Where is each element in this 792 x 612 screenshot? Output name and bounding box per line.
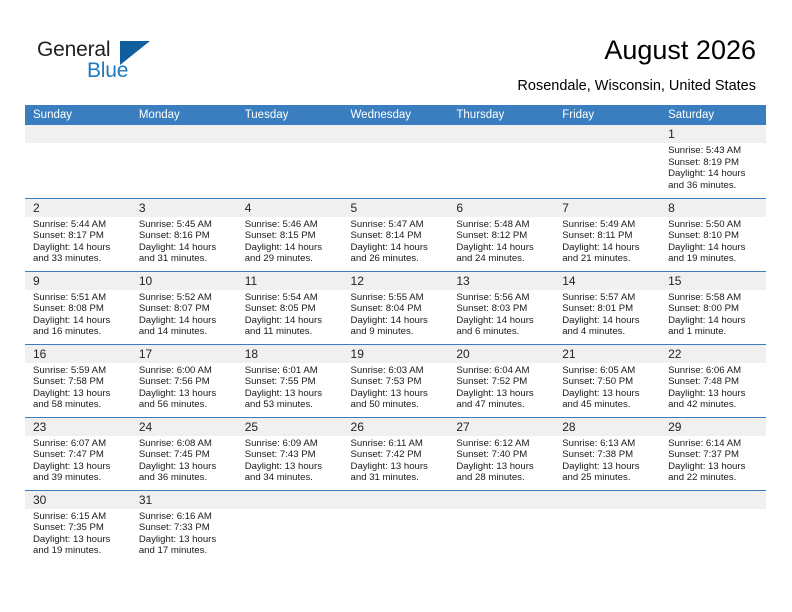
day-sunset-text: Sunset: 7:58 PM bbox=[33, 376, 125, 388]
day-sunrise-text: Sunrise: 6:06 AM bbox=[668, 365, 760, 377]
calendar-day-cell[interactable]: 17Sunrise: 6:00 AMSunset: 7:56 PMDayligh… bbox=[131, 344, 237, 417]
calendar-week-row: 16Sunrise: 5:59 AMSunset: 7:58 PMDayligh… bbox=[25, 344, 766, 417]
day-sunrise-text: Sunrise: 6:13 AM bbox=[562, 438, 654, 450]
weekday-header-wednesday: Wednesday bbox=[343, 105, 449, 125]
calendar-day-cell[interactable]: 24Sunrise: 6:08 AMSunset: 7:45 PMDayligh… bbox=[131, 417, 237, 490]
day-sunrise-text: Sunrise: 5:51 AM bbox=[33, 292, 125, 304]
weekday-header-monday: Monday bbox=[131, 105, 237, 125]
day-daylight1-text: Daylight: 13 hours bbox=[33, 388, 125, 400]
day-daylight2-text: and 36 minutes. bbox=[668, 180, 760, 192]
day-daylight1-text: Daylight: 13 hours bbox=[33, 461, 125, 473]
day-daylight1-text: Daylight: 14 hours bbox=[245, 242, 337, 254]
day-daylight1-text: Daylight: 13 hours bbox=[351, 461, 443, 473]
day-daylight1-text: Daylight: 13 hours bbox=[139, 461, 231, 473]
day-daylight1-text: Daylight: 13 hours bbox=[33, 534, 125, 546]
day-sun-info: Sunrise: 5:44 AMSunset: 8:17 PMDaylight:… bbox=[25, 217, 131, 265]
day-daylight2-text: and 28 minutes. bbox=[456, 472, 548, 484]
day-number: 26 bbox=[343, 418, 449, 436]
day-sunrise-text: Sunrise: 6:03 AM bbox=[351, 365, 443, 377]
calendar-day-cell[interactable]: 10Sunrise: 5:52 AMSunset: 8:07 PMDayligh… bbox=[131, 271, 237, 344]
day-sun-info: Sunrise: 5:50 AMSunset: 8:10 PMDaylight:… bbox=[660, 217, 766, 265]
day-number: 3 bbox=[131, 199, 237, 217]
day-sunrise-text: Sunrise: 6:08 AM bbox=[139, 438, 231, 450]
day-daylight1-text: Daylight: 14 hours bbox=[562, 315, 654, 327]
day-daylight2-text: and 24 minutes. bbox=[456, 253, 548, 265]
day-sun-info: Sunrise: 6:08 AMSunset: 7:45 PMDaylight:… bbox=[131, 436, 237, 484]
day-sun-info: Sunrise: 6:13 AMSunset: 7:38 PMDaylight:… bbox=[554, 436, 660, 484]
calendar-week-row: 1Sunrise: 5:43 AMSunset: 8:19 PMDaylight… bbox=[25, 125, 766, 198]
day-daylight2-text: and 39 minutes. bbox=[33, 472, 125, 484]
calendar-cell-empty bbox=[554, 125, 660, 198]
day-number: 21 bbox=[554, 345, 660, 363]
day-sunset-text: Sunset: 7:40 PM bbox=[456, 449, 548, 461]
day-daylight1-text: Daylight: 13 hours bbox=[139, 388, 231, 400]
day-number: 29 bbox=[660, 418, 766, 436]
day-daylight1-text: Daylight: 13 hours bbox=[245, 461, 337, 473]
day-number bbox=[131, 125, 237, 143]
day-sunrise-text: Sunrise: 6:15 AM bbox=[33, 511, 125, 523]
day-sun-info: Sunrise: 6:06 AMSunset: 7:48 PMDaylight:… bbox=[660, 363, 766, 411]
day-sunset-text: Sunset: 7:37 PM bbox=[668, 449, 760, 461]
weekday-header-tuesday: Tuesday bbox=[237, 105, 343, 125]
day-sun-info: Sunrise: 6:15 AMSunset: 7:35 PMDaylight:… bbox=[25, 509, 131, 557]
day-number: 7 bbox=[554, 199, 660, 217]
day-sun-info: Sunrise: 6:12 AMSunset: 7:40 PMDaylight:… bbox=[448, 436, 554, 484]
weekday-header: SundayMondayTuesdayWednesdayThursdayFrid… bbox=[25, 105, 766, 125]
calendar-body: 1Sunrise: 5:43 AMSunset: 8:19 PMDaylight… bbox=[25, 125, 766, 563]
weekday-header-sunday: Sunday bbox=[25, 105, 131, 125]
calendar-day-cell[interactable]: 5Sunrise: 5:47 AMSunset: 8:14 PMDaylight… bbox=[343, 198, 449, 271]
calendar-cell-empty bbox=[237, 490, 343, 563]
calendar-cell-empty bbox=[343, 125, 449, 198]
day-number: 17 bbox=[131, 345, 237, 363]
day-daylight2-text: and 47 minutes. bbox=[456, 399, 548, 411]
day-sun-info: Sunrise: 6:03 AMSunset: 7:53 PMDaylight:… bbox=[343, 363, 449, 411]
calendar-day-cell[interactable]: 7Sunrise: 5:49 AMSunset: 8:11 PMDaylight… bbox=[554, 198, 660, 271]
day-daylight1-text: Daylight: 13 hours bbox=[245, 388, 337, 400]
calendar-day-cell[interactable]: 12Sunrise: 5:55 AMSunset: 8:04 PMDayligh… bbox=[343, 271, 449, 344]
day-number: 22 bbox=[660, 345, 766, 363]
day-daylight2-text: and 50 minutes. bbox=[351, 399, 443, 411]
calendar-day-cell[interactable]: 11Sunrise: 5:54 AMSunset: 8:05 PMDayligh… bbox=[237, 271, 343, 344]
day-daylight1-text: Daylight: 14 hours bbox=[33, 315, 125, 327]
calendar-cell-empty bbox=[237, 125, 343, 198]
day-number bbox=[554, 491, 660, 509]
day-daylight1-text: Daylight: 13 hours bbox=[562, 461, 654, 473]
calendar-page: General Blue August 2026 Rosendale, Wisc… bbox=[0, 0, 792, 612]
day-number: 20 bbox=[448, 345, 554, 363]
day-number: 11 bbox=[237, 272, 343, 290]
day-daylight2-text: and 31 minutes. bbox=[139, 253, 231, 265]
day-daylight2-text: and 36 minutes. bbox=[139, 472, 231, 484]
day-daylight2-text: and 14 minutes. bbox=[139, 326, 231, 338]
calendar-week-row: 2Sunrise: 5:44 AMSunset: 8:17 PMDaylight… bbox=[25, 198, 766, 271]
day-sunset-text: Sunset: 8:10 PM bbox=[668, 230, 760, 242]
day-sunset-text: Sunset: 8:15 PM bbox=[245, 230, 337, 242]
day-sun-info: Sunrise: 5:58 AMSunset: 8:00 PMDaylight:… bbox=[660, 290, 766, 338]
day-sun-info: Sunrise: 6:05 AMSunset: 7:50 PMDaylight:… bbox=[554, 363, 660, 411]
day-sunset-text: Sunset: 8:03 PM bbox=[456, 303, 548, 315]
day-number bbox=[554, 125, 660, 143]
day-number: 24 bbox=[131, 418, 237, 436]
day-number: 5 bbox=[343, 199, 449, 217]
day-sunrise-text: Sunrise: 6:14 AM bbox=[668, 438, 760, 450]
day-sunrise-text: Sunrise: 5:54 AM bbox=[245, 292, 337, 304]
calendar-day-cell[interactable]: 21Sunrise: 6:05 AMSunset: 7:50 PMDayligh… bbox=[554, 344, 660, 417]
day-sunrise-text: Sunrise: 5:45 AM bbox=[139, 219, 231, 231]
day-daylight1-text: Daylight: 14 hours bbox=[668, 315, 760, 327]
day-daylight1-text: Daylight: 14 hours bbox=[245, 315, 337, 327]
calendar-cell-empty bbox=[660, 490, 766, 563]
day-daylight1-text: Daylight: 14 hours bbox=[562, 242, 654, 254]
day-daylight1-text: Daylight: 13 hours bbox=[456, 388, 548, 400]
day-sunrise-text: Sunrise: 6:09 AM bbox=[245, 438, 337, 450]
day-sun-info: Sunrise: 5:51 AMSunset: 8:08 PMDaylight:… bbox=[25, 290, 131, 338]
day-daylight1-text: Daylight: 14 hours bbox=[456, 315, 548, 327]
calendar-day-cell[interactable]: 25Sunrise: 6:09 AMSunset: 7:43 PMDayligh… bbox=[237, 417, 343, 490]
calendar-day-cell[interactable]: 15Sunrise: 5:58 AMSunset: 8:00 PMDayligh… bbox=[660, 271, 766, 344]
day-daylight1-text: Daylight: 13 hours bbox=[668, 461, 760, 473]
calendar-day-cell[interactable]: 13Sunrise: 5:56 AMSunset: 8:03 PMDayligh… bbox=[448, 271, 554, 344]
day-sunrise-text: Sunrise: 6:05 AM bbox=[562, 365, 654, 377]
day-sun-info: Sunrise: 5:56 AMSunset: 8:03 PMDaylight:… bbox=[448, 290, 554, 338]
day-number: 16 bbox=[25, 345, 131, 363]
calendar-day-cell[interactable]: 9Sunrise: 5:51 AMSunset: 8:08 PMDaylight… bbox=[25, 271, 131, 344]
calendar-week-row: 30Sunrise: 6:15 AMSunset: 7:35 PMDayligh… bbox=[25, 490, 766, 563]
calendar-cell-empty bbox=[448, 125, 554, 198]
day-sunset-text: Sunset: 8:14 PM bbox=[351, 230, 443, 242]
day-number: 28 bbox=[554, 418, 660, 436]
day-sun-info: Sunrise: 5:59 AMSunset: 7:58 PMDaylight:… bbox=[25, 363, 131, 411]
calendar-day-cell[interactable]: 27Sunrise: 6:12 AMSunset: 7:40 PMDayligh… bbox=[448, 417, 554, 490]
day-sun-info: Sunrise: 6:16 AMSunset: 7:33 PMDaylight:… bbox=[131, 509, 237, 557]
day-sunset-text: Sunset: 7:35 PM bbox=[33, 522, 125, 534]
day-number: 10 bbox=[131, 272, 237, 290]
calendar-day-cell[interactable]: 23Sunrise: 6:07 AMSunset: 7:47 PMDayligh… bbox=[25, 417, 131, 490]
day-sunrise-text: Sunrise: 5:58 AM bbox=[668, 292, 760, 304]
day-daylight2-text: and 19 minutes. bbox=[33, 545, 125, 557]
day-sunset-text: Sunset: 7:42 PM bbox=[351, 449, 443, 461]
calendar-day-cell[interactable]: 31Sunrise: 6:16 AMSunset: 7:33 PMDayligh… bbox=[131, 490, 237, 563]
calendar-day-cell[interactable]: 6Sunrise: 5:48 AMSunset: 8:12 PMDaylight… bbox=[448, 198, 554, 271]
day-sunset-text: Sunset: 8:07 PM bbox=[139, 303, 231, 315]
day-number: 8 bbox=[660, 199, 766, 217]
day-sun-info: Sunrise: 5:46 AMSunset: 8:15 PMDaylight:… bbox=[237, 217, 343, 265]
calendar-day-cell[interactable]: 4Sunrise: 5:46 AMSunset: 8:15 PMDaylight… bbox=[237, 198, 343, 271]
day-daylight1-text: Daylight: 14 hours bbox=[668, 242, 760, 254]
day-sun-info: Sunrise: 5:55 AMSunset: 8:04 PMDaylight:… bbox=[343, 290, 449, 338]
day-sunset-text: Sunset: 7:38 PM bbox=[562, 449, 654, 461]
day-number: 25 bbox=[237, 418, 343, 436]
day-daylight2-text: and 42 minutes. bbox=[668, 399, 760, 411]
day-sunrise-text: Sunrise: 5:48 AM bbox=[456, 219, 548, 231]
day-daylight2-text: and 9 minutes. bbox=[351, 326, 443, 338]
day-daylight1-text: Daylight: 14 hours bbox=[668, 168, 760, 180]
day-sunset-text: Sunset: 8:17 PM bbox=[33, 230, 125, 242]
day-number bbox=[343, 491, 449, 509]
calendar-day-cell[interactable]: 28Sunrise: 6:13 AMSunset: 7:38 PMDayligh… bbox=[554, 417, 660, 490]
day-sun-info: Sunrise: 6:11 AMSunset: 7:42 PMDaylight:… bbox=[343, 436, 449, 484]
day-number: 2 bbox=[25, 199, 131, 217]
day-sun-info: Sunrise: 5:57 AMSunset: 8:01 PMDaylight:… bbox=[554, 290, 660, 338]
day-daylight2-text: and 25 minutes. bbox=[562, 472, 654, 484]
day-sunset-text: Sunset: 8:04 PM bbox=[351, 303, 443, 315]
day-sun-info: Sunrise: 5:49 AMSunset: 8:11 PMDaylight:… bbox=[554, 217, 660, 265]
day-sunrise-text: Sunrise: 6:16 AM bbox=[139, 511, 231, 523]
calendar-week-row: 23Sunrise: 6:07 AMSunset: 7:47 PMDayligh… bbox=[25, 417, 766, 490]
calendar-day-cell[interactable]: 3Sunrise: 5:45 AMSunset: 8:16 PMDaylight… bbox=[131, 198, 237, 271]
day-daylight2-text: and 4 minutes. bbox=[562, 326, 654, 338]
day-sunrise-text: Sunrise: 5:55 AM bbox=[351, 292, 443, 304]
day-daylight2-text: and 1 minute. bbox=[668, 326, 760, 338]
day-daylight2-text: and 56 minutes. bbox=[139, 399, 231, 411]
day-sun-info: Sunrise: 6:01 AMSunset: 7:55 PMDaylight:… bbox=[237, 363, 343, 411]
page-header: General Blue August 2026 Rosendale, Wisc… bbox=[0, 0, 792, 98]
calendar-cell-empty bbox=[131, 125, 237, 198]
page-subtitle: Rosendale, Wisconsin, United States bbox=[517, 78, 756, 94]
day-sun-info: Sunrise: 5:45 AMSunset: 8:16 PMDaylight:… bbox=[131, 217, 237, 265]
day-sunrise-text: Sunrise: 5:57 AM bbox=[562, 292, 654, 304]
calendar-day-cell[interactable]: 8Sunrise: 5:50 AMSunset: 8:10 PMDaylight… bbox=[660, 198, 766, 271]
day-number bbox=[237, 491, 343, 509]
brand-logo[interactable]: General Blue bbox=[37, 38, 217, 90]
day-daylight1-text: Daylight: 14 hours bbox=[456, 242, 548, 254]
day-sunrise-text: Sunrise: 6:12 AM bbox=[456, 438, 548, 450]
day-number: 1 bbox=[660, 125, 766, 143]
day-daylight1-text: Daylight: 13 hours bbox=[351, 388, 443, 400]
day-daylight1-text: Daylight: 14 hours bbox=[351, 315, 443, 327]
weekday-header-friday: Friday bbox=[554, 105, 660, 125]
calendar-day-cell[interactable]: 30Sunrise: 6:15 AMSunset: 7:35 PMDayligh… bbox=[25, 490, 131, 563]
calendar-header-row: SundayMondayTuesdayWednesdayThursdayFrid… bbox=[25, 105, 766, 125]
day-sunset-text: Sunset: 8:00 PM bbox=[668, 303, 760, 315]
day-sun-info: Sunrise: 6:14 AMSunset: 7:37 PMDaylight:… bbox=[660, 436, 766, 484]
day-number: 13 bbox=[448, 272, 554, 290]
day-daylight2-text: and 45 minutes. bbox=[562, 399, 654, 411]
day-number bbox=[448, 125, 554, 143]
day-number: 6 bbox=[448, 199, 554, 217]
calendar-week-row: 9Sunrise: 5:51 AMSunset: 8:08 PMDaylight… bbox=[25, 271, 766, 344]
calendar-day-cell[interactable]: 19Sunrise: 6:03 AMSunset: 7:53 PMDayligh… bbox=[343, 344, 449, 417]
day-sunset-text: Sunset: 8:12 PM bbox=[456, 230, 548, 242]
day-sunset-text: Sunset: 8:16 PM bbox=[139, 230, 231, 242]
weekday-header-thursday: Thursday bbox=[448, 105, 554, 125]
calendar-day-cell[interactable]: 14Sunrise: 5:57 AMSunset: 8:01 PMDayligh… bbox=[554, 271, 660, 344]
day-sun-info: Sunrise: 5:43 AMSunset: 8:19 PMDaylight:… bbox=[660, 143, 766, 191]
day-sunrise-text: Sunrise: 5:46 AM bbox=[245, 219, 337, 231]
day-number: 14 bbox=[554, 272, 660, 290]
day-number: 19 bbox=[343, 345, 449, 363]
day-number bbox=[343, 125, 449, 143]
day-number: 18 bbox=[237, 345, 343, 363]
day-daylight2-text: and 19 minutes. bbox=[668, 253, 760, 265]
calendar-table: SundayMondayTuesdayWednesdayThursdayFrid… bbox=[25, 105, 766, 563]
day-sun-info: Sunrise: 5:54 AMSunset: 8:05 PMDaylight:… bbox=[237, 290, 343, 338]
day-number: 27 bbox=[448, 418, 554, 436]
day-sunset-text: Sunset: 8:01 PM bbox=[562, 303, 654, 315]
calendar-cell-empty bbox=[448, 490, 554, 563]
day-daylight1-text: Daylight: 13 hours bbox=[562, 388, 654, 400]
day-daylight2-text: and 11 minutes. bbox=[245, 326, 337, 338]
day-number: 31 bbox=[131, 491, 237, 509]
day-sunrise-text: Sunrise: 5:56 AM bbox=[456, 292, 548, 304]
day-sun-info: Sunrise: 6:04 AMSunset: 7:52 PMDaylight:… bbox=[448, 363, 554, 411]
calendar-cell-empty bbox=[25, 125, 131, 198]
calendar-day-cell[interactable]: 20Sunrise: 6:04 AMSunset: 7:52 PMDayligh… bbox=[448, 344, 554, 417]
day-daylight2-text: and 17 minutes. bbox=[139, 545, 231, 557]
day-number bbox=[25, 125, 131, 143]
page-title: August 2026 bbox=[604, 35, 756, 66]
day-daylight2-text: and 53 minutes. bbox=[245, 399, 337, 411]
day-sun-info: Sunrise: 6:09 AMSunset: 7:43 PMDaylight:… bbox=[237, 436, 343, 484]
calendar-day-cell[interactable]: 22Sunrise: 6:06 AMSunset: 7:48 PMDayligh… bbox=[660, 344, 766, 417]
calendar-cell-empty bbox=[343, 490, 449, 563]
day-sunrise-text: Sunrise: 5:47 AM bbox=[351, 219, 443, 231]
day-sunset-text: Sunset: 8:11 PM bbox=[562, 230, 654, 242]
day-sunset-text: Sunset: 7:43 PM bbox=[245, 449, 337, 461]
calendar-day-cell[interactable]: 16Sunrise: 5:59 AMSunset: 7:58 PMDayligh… bbox=[25, 344, 131, 417]
day-daylight2-text: and 16 minutes. bbox=[33, 326, 125, 338]
day-sun-info: Sunrise: 6:00 AMSunset: 7:56 PMDaylight:… bbox=[131, 363, 237, 411]
calendar-day-cell[interactable]: 18Sunrise: 6:01 AMSunset: 7:55 PMDayligh… bbox=[237, 344, 343, 417]
day-daylight2-text: and 21 minutes. bbox=[562, 253, 654, 265]
day-sunset-text: Sunset: 8:08 PM bbox=[33, 303, 125, 315]
day-daylight2-text: and 58 minutes. bbox=[33, 399, 125, 411]
day-sunset-text: Sunset: 7:52 PM bbox=[456, 376, 548, 388]
day-daylight2-text: and 31 minutes. bbox=[351, 472, 443, 484]
day-number: 15 bbox=[660, 272, 766, 290]
day-daylight2-text: and 29 minutes. bbox=[245, 253, 337, 265]
day-number: 12 bbox=[343, 272, 449, 290]
day-sunset-text: Sunset: 7:56 PM bbox=[139, 376, 231, 388]
day-daylight1-text: Daylight: 13 hours bbox=[668, 388, 760, 400]
day-sun-info: Sunrise: 5:52 AMSunset: 8:07 PMDaylight:… bbox=[131, 290, 237, 338]
day-sunset-text: Sunset: 7:55 PM bbox=[245, 376, 337, 388]
calendar-day-cell[interactable]: 1Sunrise: 5:43 AMSunset: 8:19 PMDaylight… bbox=[660, 125, 766, 198]
day-daylight1-text: Daylight: 13 hours bbox=[139, 534, 231, 546]
day-sunset-text: Sunset: 7:45 PM bbox=[139, 449, 231, 461]
day-daylight1-text: Daylight: 14 hours bbox=[351, 242, 443, 254]
calendar-cell-empty bbox=[554, 490, 660, 563]
day-sun-info: Sunrise: 5:47 AMSunset: 8:14 PMDaylight:… bbox=[343, 217, 449, 265]
day-sunrise-text: Sunrise: 6:11 AM bbox=[351, 438, 443, 450]
day-number: 23 bbox=[25, 418, 131, 436]
day-sun-info: Sunrise: 6:07 AMSunset: 7:47 PMDaylight:… bbox=[25, 436, 131, 484]
day-sunset-text: Sunset: 7:50 PM bbox=[562, 376, 654, 388]
day-daylight1-text: Daylight: 14 hours bbox=[139, 242, 231, 254]
day-daylight2-text: and 6 minutes. bbox=[456, 326, 548, 338]
day-number: 4 bbox=[237, 199, 343, 217]
day-sunset-text: Sunset: 7:48 PM bbox=[668, 376, 760, 388]
day-number: 30 bbox=[25, 491, 131, 509]
day-sunrise-text: Sunrise: 5:43 AM bbox=[668, 145, 760, 157]
brand-name-blue: Blue bbox=[87, 59, 128, 83]
calendar-day-cell[interactable]: 2Sunrise: 5:44 AMSunset: 8:17 PMDaylight… bbox=[25, 198, 131, 271]
day-daylight1-text: Daylight: 13 hours bbox=[456, 461, 548, 473]
day-number bbox=[660, 491, 766, 509]
day-sunset-text: Sunset: 7:47 PM bbox=[33, 449, 125, 461]
calendar-day-cell[interactable]: 26Sunrise: 6:11 AMSunset: 7:42 PMDayligh… bbox=[343, 417, 449, 490]
day-daylight2-text: and 22 minutes. bbox=[668, 472, 760, 484]
day-sunset-text: Sunset: 8:19 PM bbox=[668, 157, 760, 169]
day-sunrise-text: Sunrise: 5:59 AM bbox=[33, 365, 125, 377]
day-sunset-text: Sunset: 8:05 PM bbox=[245, 303, 337, 315]
day-daylight1-text: Daylight: 14 hours bbox=[33, 242, 125, 254]
day-sunrise-text: Sunrise: 5:52 AM bbox=[139, 292, 231, 304]
day-sunrise-text: Sunrise: 6:04 AM bbox=[456, 365, 548, 377]
day-sunrise-text: Sunrise: 6:00 AM bbox=[139, 365, 231, 377]
day-daylight1-text: Daylight: 14 hours bbox=[139, 315, 231, 327]
day-daylight2-text: and 26 minutes. bbox=[351, 253, 443, 265]
day-sunset-text: Sunset: 7:53 PM bbox=[351, 376, 443, 388]
day-sunset-text: Sunset: 7:33 PM bbox=[139, 522, 231, 534]
day-sunrise-text: Sunrise: 5:44 AM bbox=[33, 219, 125, 231]
day-sunrise-text: Sunrise: 5:50 AM bbox=[668, 219, 760, 231]
day-number: 9 bbox=[25, 272, 131, 290]
weekday-header-saturday: Saturday bbox=[660, 105, 766, 125]
day-daylight2-text: and 34 minutes. bbox=[245, 472, 337, 484]
day-number bbox=[448, 491, 554, 509]
day-sunrise-text: Sunrise: 6:07 AM bbox=[33, 438, 125, 450]
day-number bbox=[237, 125, 343, 143]
day-daylight2-text: and 33 minutes. bbox=[33, 253, 125, 265]
day-sun-info: Sunrise: 5:48 AMSunset: 8:12 PMDaylight:… bbox=[448, 217, 554, 265]
day-sunrise-text: Sunrise: 6:01 AM bbox=[245, 365, 337, 377]
calendar-day-cell[interactable]: 29Sunrise: 6:14 AMSunset: 7:37 PMDayligh… bbox=[660, 417, 766, 490]
day-sunrise-text: Sunrise: 5:49 AM bbox=[562, 219, 654, 231]
